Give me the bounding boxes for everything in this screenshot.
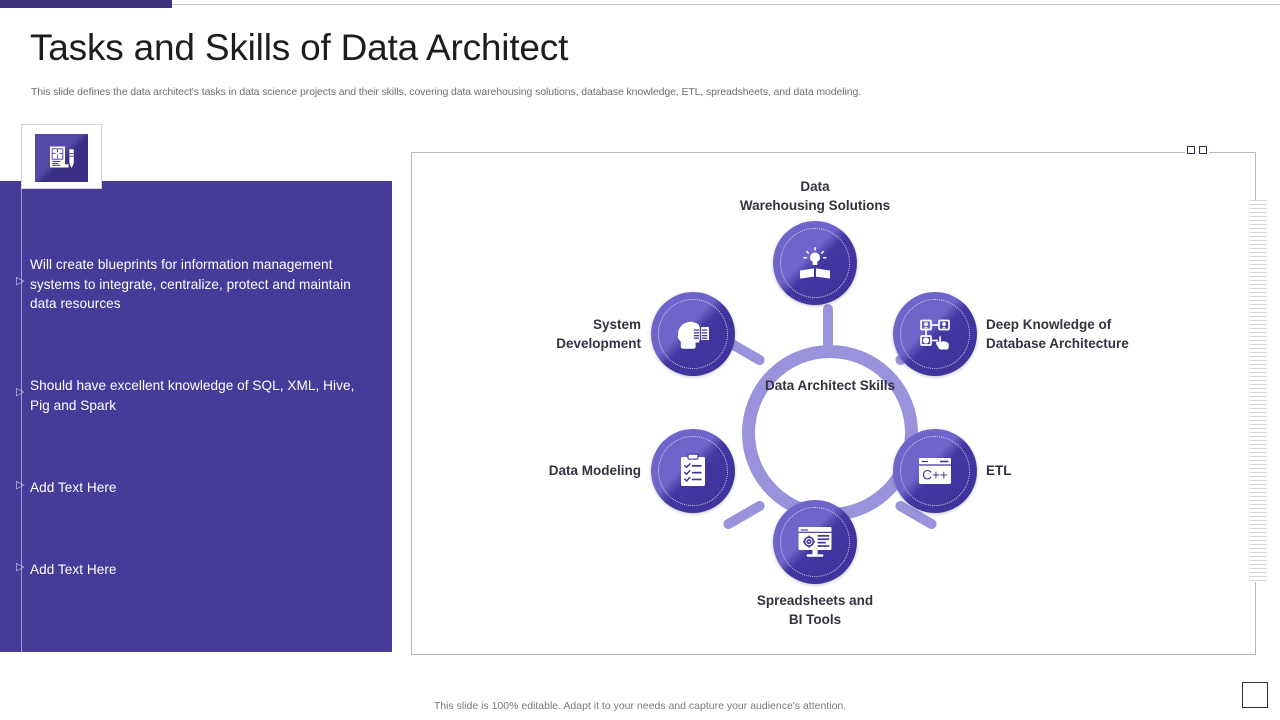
list-item-label: Will create blueprints for information m… bbox=[30, 255, 376, 314]
hub-ring bbox=[742, 345, 918, 521]
list-item-label: Add Text Here bbox=[30, 560, 376, 580]
page-title: Tasks and Skills of Data Architect bbox=[30, 27, 568, 69]
node-spreadsheets-bi-tools[interactable] bbox=[773, 500, 857, 584]
list-item[interactable]: ▷ Add Text Here bbox=[16, 478, 376, 498]
bullet-triangle-icon: ▷ bbox=[16, 387, 30, 398]
node-etl[interactable]: C++ bbox=[893, 429, 977, 513]
lightbulb-book-icon bbox=[795, 243, 835, 283]
node-data-modeling[interactable] bbox=[651, 429, 735, 513]
data-architect-skills-diagram: Data Architect Skills Data Warehousing S… bbox=[411, 152, 1256, 655]
node-label-system-development: System Development bbox=[521, 315, 641, 353]
monitor-gear-icon bbox=[795, 523, 835, 561]
spoke-top bbox=[823, 304, 833, 349]
database-network-icon bbox=[916, 315, 954, 353]
page-subtitle: This slide defines the data architect's … bbox=[31, 86, 1131, 98]
head-book-icon bbox=[673, 316, 713, 352]
list-item[interactable]: ▷ Will create blueprints for information… bbox=[16, 255, 376, 314]
blueprint-pencil-icon bbox=[35, 134, 88, 182]
top-accent-segment bbox=[0, 0, 172, 8]
node-label-data-modeling: Data Modeling bbox=[531, 461, 641, 480]
node-label-etl: ETL bbox=[986, 461, 1012, 480]
node-label-spreadsheets-bi-tools: Spreadsheets and BI Tools bbox=[705, 591, 925, 629]
clipboard-checklist-icon bbox=[676, 452, 710, 490]
list-item[interactable]: ▷ Add Text Here bbox=[16, 560, 376, 580]
left-bullet-list: ▷ Will create blueprints for information… bbox=[0, 181, 392, 652]
list-item-label: Add Text Here bbox=[30, 478, 376, 498]
hub-label: Data Architect Skills bbox=[742, 376, 918, 395]
bullet-triangle-icon: ▷ bbox=[16, 480, 30, 491]
node-data-warehousing-solutions[interactable] bbox=[773, 221, 857, 305]
bullet-triangle-icon: ▷ bbox=[16, 276, 30, 287]
code-window-icon: C++ bbox=[915, 454, 955, 488]
bullet-triangle-icon: ▷ bbox=[16, 562, 30, 573]
list-item-label: Should have excellent knowledge of SQL, … bbox=[30, 376, 376, 415]
list-item[interactable]: ▷ Should have excellent knowledge of SQL… bbox=[16, 376, 376, 415]
node-system-development[interactable] bbox=[651, 292, 735, 376]
node-deep-knowledge-database-architecture[interactable] bbox=[893, 292, 977, 376]
top-accent-bar bbox=[0, 0, 1280, 8]
blueprint-icon-box bbox=[21, 124, 102, 189]
node-label-data-warehousing-solutions: Data Warehousing Solutions bbox=[715, 177, 915, 215]
top-divider-line bbox=[172, 4, 1280, 5]
node-label-deep-knowledge-database-architecture: Deep Knowledge of Database Architecture bbox=[986, 315, 1129, 353]
svg-text:C++: C++ bbox=[922, 467, 948, 482]
footer-note: This slide is 100% editable. Adapt it to… bbox=[0, 700, 1280, 712]
spoke-left-lower bbox=[722, 499, 767, 531]
